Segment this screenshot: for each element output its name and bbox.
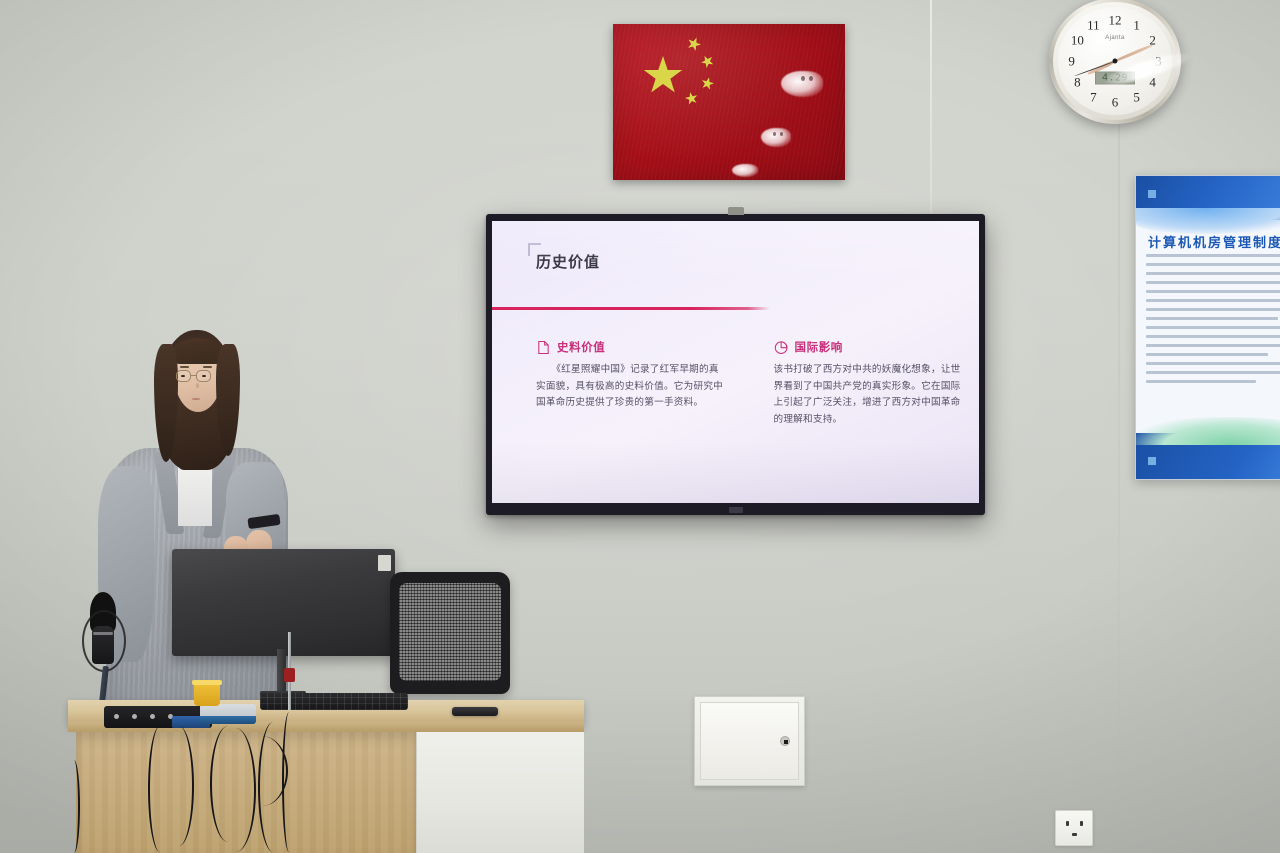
flag-glare-dot-4 bbox=[780, 132, 783, 136]
wall-poster: 计算机机房管理制度 bbox=[1135, 175, 1280, 480]
presenter-eye-right bbox=[202, 375, 206, 377]
clock-numeral-12: 12 bbox=[1109, 13, 1122, 26]
clock-numeral-10: 10 bbox=[1071, 34, 1084, 47]
clock-numeral-11: 11 bbox=[1087, 19, 1100, 32]
clock-numeral-4: 4 bbox=[1149, 75, 1156, 88]
cable-7 bbox=[282, 712, 296, 852]
smartphone[interactable] bbox=[452, 707, 498, 716]
slide-column-2-body: 该书打破了西方对中共的妖魔化想象，让世界看到了中国共产党的真实形象。它在国际上引… bbox=[774, 362, 966, 428]
monitor-panel-rear bbox=[172, 549, 395, 656]
presenter-glasses bbox=[176, 370, 222, 384]
clock-numeral-8: 8 bbox=[1074, 75, 1081, 88]
presenter-nose bbox=[196, 383, 199, 388]
outlet-slot-left bbox=[1066, 821, 1069, 826]
flag-glare-1 bbox=[781, 71, 823, 97]
yellow-mug-rim bbox=[192, 680, 222, 685]
slide-column-1-body: 《红星照耀中国》记录了红军早期的真实面貌，具有极高的史料价值。它为研究中国革命历… bbox=[536, 362, 728, 412]
tv-wall-mount bbox=[728, 207, 744, 215]
slide-column-2-header: 国际影响 bbox=[774, 339, 966, 355]
flag-texture bbox=[613, 24, 845, 180]
wall-seam-right bbox=[1118, 0, 1120, 853]
clock-numeral-9: 9 bbox=[1068, 55, 1075, 68]
power-outlet[interactable] bbox=[1055, 810, 1093, 846]
slide-column-1-heading: 史料价值 bbox=[557, 339, 605, 355]
clock-center-pin bbox=[1113, 59, 1118, 64]
poster-footer-mark bbox=[1148, 457, 1156, 465]
slide-column-2-heading: 国际影响 bbox=[795, 339, 843, 355]
slide-columns: 史料价值 《红星照耀中国》记录了红军早期的真实面貌，具有极高的史料价值。它为研究… bbox=[492, 339, 979, 428]
slide-screen[interactable]: 历史价值 史料价值 《红星照耀中国》记录了红军早期的真实面貌，具有极高的史料价值… bbox=[492, 221, 979, 503]
yellow-mug[interactable] bbox=[194, 682, 220, 706]
pie-chart-icon bbox=[774, 340, 789, 355]
clock-numeral-6: 6 bbox=[1112, 96, 1119, 109]
presenter-mouth bbox=[192, 398, 200, 400]
clock-numeral-5: 5 bbox=[1133, 90, 1140, 103]
desk-pedestal bbox=[416, 732, 584, 853]
poster-title: 计算机机房管理制度 bbox=[1148, 232, 1280, 251]
slide-column-1-header: 史料价值 bbox=[536, 339, 728, 355]
chair-mesh-back bbox=[399, 583, 501, 681]
china-flag bbox=[613, 24, 845, 180]
flag-glare-dot-3 bbox=[773, 132, 776, 136]
slide-column-1: 史料价值 《红星照耀中国》记录了红军早期的真实面貌，具有极高的史料价值。它为研究… bbox=[492, 339, 750, 428]
clock-numeral-1: 1 bbox=[1133, 19, 1140, 32]
wall-access-panel[interactable] bbox=[694, 696, 805, 786]
wall-clock: 12 1 2 3 4 5 6 7 8 9 10 11 Ajanta 4.29 bbox=[1049, 0, 1181, 124]
presenter-hair-side-right bbox=[216, 344, 240, 456]
cable-6 bbox=[236, 736, 288, 806]
office-chair[interactable] bbox=[390, 572, 512, 704]
power-supply-box-base bbox=[200, 716, 256, 724]
glasses-bridge bbox=[191, 375, 197, 376]
audio-interface-knob-3[interactable] bbox=[150, 714, 155, 719]
tv-brand-logo bbox=[729, 507, 743, 513]
slide-column-2: 国际影响 该书打破了西方对中共的妖魔化想象，让世界看到了中国共产党的真实形象。它… bbox=[750, 339, 980, 428]
slide-title: 历史价值 bbox=[536, 251, 600, 272]
presentation-display[interactable]: 历史价值 史料价值 《红星照耀中国》记录了红军早期的真实面貌，具有极高的史料价值… bbox=[486, 214, 985, 515]
flag-glare-3 bbox=[732, 164, 758, 177]
flag-glare-dot-2 bbox=[809, 76, 813, 81]
boom-clamp bbox=[284, 668, 295, 682]
flag-glare-2 bbox=[761, 128, 791, 147]
keyboard[interactable] bbox=[260, 693, 408, 710]
slide-divider-rule bbox=[492, 307, 770, 310]
clock-numeral-7: 7 bbox=[1090, 90, 1097, 103]
document-icon bbox=[536, 340, 551, 355]
classroom-scene: 12 1 2 3 4 5 6 7 8 9 10 11 Ajanta 4.29 计… bbox=[0, 0, 1280, 853]
cable-8 bbox=[68, 760, 80, 853]
presenter-eye-left bbox=[181, 375, 185, 377]
outlet-slot-bottom bbox=[1072, 833, 1077, 836]
flag-glare-dot-1 bbox=[801, 76, 805, 81]
audio-interface-knob-2[interactable] bbox=[132, 714, 137, 719]
poster-footer-band bbox=[1136, 433, 1280, 479]
poster-body-text bbox=[1146, 254, 1280, 427]
cable-2 bbox=[164, 726, 194, 846]
clock-brand-label: Ajanta bbox=[1105, 35, 1124, 41]
poster-header-band bbox=[1136, 176, 1280, 220]
outlet-slot-right bbox=[1080, 821, 1083, 826]
presenter-brow-left bbox=[180, 366, 189, 368]
wall-seam-left bbox=[930, 0, 932, 215]
monitor-label-sticker bbox=[378, 555, 391, 571]
audio-interface-knob-1[interactable] bbox=[114, 714, 119, 719]
microphone-shock-mount bbox=[82, 610, 126, 672]
presenter-brow-right bbox=[203, 366, 212, 368]
poster-header-mark bbox=[1148, 190, 1156, 198]
access-panel-lock[interactable] bbox=[780, 736, 790, 746]
